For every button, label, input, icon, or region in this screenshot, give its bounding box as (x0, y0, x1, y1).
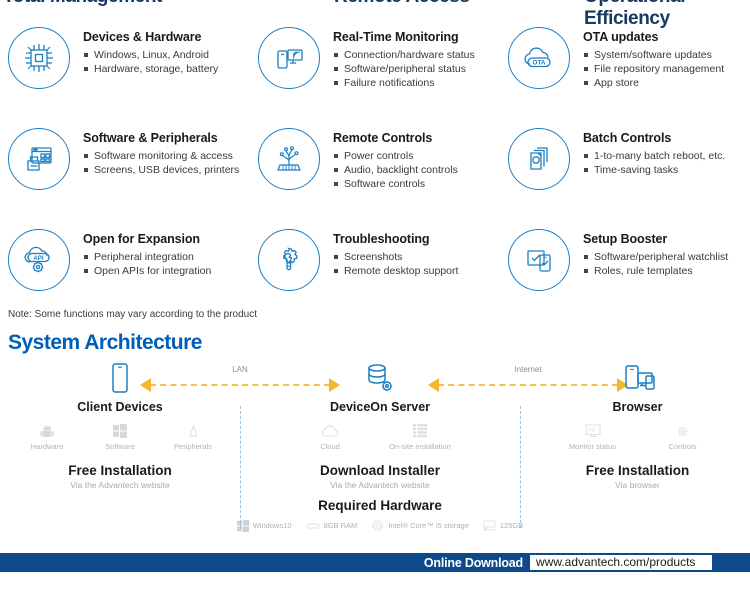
feature-item: File repository management (583, 62, 724, 76)
checklist-devices-icon (508, 229, 570, 291)
cloud-icon (290, 423, 370, 439)
hdd-icon (483, 520, 496, 532)
feature-item: Screenshots (333, 250, 458, 264)
system-architecture-title: System Architecture (8, 331, 202, 355)
feature-item: Time-saving tasks (583, 163, 725, 177)
feature-item: Open APIs for integration (83, 264, 211, 278)
feature-card-batch-controls: Batch Controls 1-to-many batch reboot, e… (500, 125, 750, 226)
feature-title: Open for Expansion (83, 232, 211, 246)
subitem-label: Software (84, 442, 157, 451)
server-subitems: Cloud On-site installation (250, 423, 510, 451)
node-deviceon-server: DeviceOn Server Cloud (250, 362, 510, 532)
api-cloud-gear-icon: API (8, 229, 70, 291)
requirement-os: Windows10 (237, 520, 292, 532)
feature-item: Audio, backlight controls (333, 163, 458, 177)
feature-card-devices-hardware: Devices & Hardware Windows, Linux, Andro… (0, 24, 250, 125)
feature-item: Windows, Linux, Android (83, 48, 218, 62)
feature-item: Roles, rule templates (583, 264, 728, 278)
disclaimer-note: Note: Some functions may vary according … (8, 309, 257, 320)
feature-item: Power controls (333, 149, 458, 163)
windows-icon (84, 423, 157, 439)
browser-subitems: Monitor status Controls (530, 423, 745, 451)
requirement-label: Intel® Core™ i5 storage (388, 521, 469, 530)
requirement-cpu: Intel® Core™ i5 storage (371, 519, 469, 532)
subitem-onsite: On-site installation (370, 423, 470, 451)
feature-title: OTA updates (583, 30, 724, 44)
server-headline: Download Installer (250, 463, 510, 478)
feature-row: Devices & Hardware Windows, Linux, Andro… (0, 24, 750, 125)
feature-title: Troubleshooting (333, 232, 458, 246)
node-client-devices: Client Devices Hardware (10, 362, 230, 490)
circuit-controls-icon (258, 128, 320, 190)
cloud-ota-icon: OTA (508, 27, 570, 89)
batch-documents-icon (508, 128, 570, 190)
client-subline: Via the Advantech website (10, 480, 230, 490)
feature-title: Setup Booster (583, 232, 728, 246)
controls-gear-icon (638, 423, 728, 439)
feature-grid: Devices & Hardware Windows, Linux, Andro… (0, 24, 750, 327)
feature-row: Software & Peripherals Software monitori… (0, 125, 750, 226)
ram-icon (306, 521, 320, 531)
feature-text: Setup Booster Software/peripheral watchl… (570, 226, 728, 278)
feature-card-ota-updates: OTA OTA updates System/software updates … (500, 24, 750, 125)
feature-item: Software controls (333, 177, 458, 191)
windows-icon (237, 520, 249, 532)
divider-left (240, 406, 241, 528)
subitem-controls: Controls (638, 423, 728, 451)
feature-text: Batch Controls 1-to-many batch reboot, e… (570, 125, 725, 177)
feature-title: Software & Peripherals (83, 131, 239, 145)
browser-headline: Free Installation (530, 463, 745, 478)
node-label: Client Devices (10, 400, 230, 414)
onsite-server-icon (370, 423, 470, 439)
subitem-label: Cloud (290, 442, 370, 451)
subitem-peripherals: Peripherals (157, 423, 230, 451)
feature-title: Real-Time Monitoring (333, 30, 475, 44)
feature-item: 1-to-many batch reboot, etc. (583, 149, 725, 163)
node-browser: Browser Monitor status (530, 362, 745, 490)
monitor-status-icon (548, 423, 638, 439)
feature-title: Devices & Hardware (83, 30, 218, 44)
node-label: Browser (530, 400, 745, 414)
feature-text: Remote Controls Power controls Audio, ba… (320, 125, 458, 191)
feature-item: Connection/hardware status (333, 48, 475, 62)
feature-item: App store (583, 76, 724, 90)
software-peripherals-icon (8, 128, 70, 190)
feature-card-setup-booster: Setup Booster Software/peripheral watchl… (500, 226, 750, 327)
android-icon (11, 423, 84, 439)
feature-text: OTA updates System/software updates File… (570, 24, 724, 90)
subitem-hardware: Hardware (11, 423, 84, 451)
client-headline: Free Installation (10, 463, 230, 478)
requirement-storage: 125GB (483, 520, 523, 532)
subitem-label: On-site installation (370, 442, 470, 451)
online-download-label: Online Download (424, 556, 523, 570)
feature-item: Software/peripheral watchlist (583, 250, 728, 264)
browser-subline: Via browser (530, 480, 745, 490)
node-label: DeviceOn Server (250, 400, 510, 414)
svg-text:OTA: OTA (532, 60, 545, 67)
multi-device-browser-icon (530, 362, 745, 396)
cpu-icon (371, 519, 384, 532)
architecture-diagram: LAN Internet Client Devices (0, 362, 750, 532)
requirement-label: 125GB (500, 521, 523, 530)
peripherals-icon (157, 423, 230, 439)
download-url[interactable]: www.advantech.com/products (530, 555, 712, 570)
feature-item: System/software updates (583, 48, 724, 62)
feature-title: Remote Controls (333, 131, 458, 145)
feature-text: Open for Expansion Peripheral integratio… (70, 226, 211, 278)
feature-card-troubleshooting: Troubleshooting Screenshots Remote deskt… (250, 226, 500, 327)
server-requirements-title: Required Hardware (250, 498, 510, 513)
feature-item: Failure notifications (333, 76, 475, 90)
subitem-label: Controls (638, 442, 728, 451)
subitem-software: Software (84, 423, 157, 451)
feature-card-software-peripherals: Software & Peripherals Software monitori… (0, 125, 250, 226)
subitem-label: Hardware (11, 442, 84, 451)
database-gear-icon (250, 362, 510, 396)
subitem-label: Monitor status (548, 442, 638, 451)
feature-item: Hardware, storage, battery (83, 62, 218, 76)
client-subitems: Hardware Software (10, 423, 230, 451)
requirement-label: 8GB RAM (324, 521, 358, 530)
feature-item: Screens, USB devices, printers (83, 163, 239, 177)
subitem-cloud: Cloud (290, 423, 370, 451)
mobile-device-icon (10, 362, 230, 396)
feature-card-real-time-monitoring: Real-Time Monitoring Connection/hardware… (250, 24, 500, 125)
feature-item: Software monitoring & access (83, 149, 239, 163)
poster-page: Total Management Remote Access Operation… (0, 0, 750, 591)
requirement-ram: 8GB RAM (306, 521, 358, 531)
feature-item: Peripheral integration (83, 250, 211, 264)
subitem-monitor-status: Monitor status (548, 423, 638, 451)
feature-text: Software & Peripherals Software monitori… (70, 125, 239, 177)
chip-icon (8, 27, 70, 89)
feature-card-remote-controls: Remote Controls Power controls Audio, ba… (250, 125, 500, 226)
feature-text: Devices & Hardware Windows, Linux, Andro… (70, 24, 218, 76)
footer-bar: Online Download www.advantech.com/produc… (0, 553, 750, 572)
feature-text: Real-Time Monitoring Connection/hardware… (320, 24, 475, 90)
svg-text:API: API (33, 255, 44, 262)
feature-item: Remote desktop support (333, 264, 458, 278)
feature-text: Troubleshooting Screenshots Remote deskt… (320, 226, 458, 278)
requirement-label: Windows10 (253, 521, 292, 530)
server-subline: Via the Advantech website (250, 480, 510, 490)
server-requirements: Windows10 8GB RAM (250, 519, 510, 532)
feature-item: Software/peripheral status (333, 62, 475, 76)
divider-right (520, 406, 521, 528)
subitem-label: Peripherals (157, 442, 230, 451)
remote-monitoring-icon (258, 27, 320, 89)
feature-title: Batch Controls (583, 131, 725, 145)
gear-wrench-icon (258, 229, 320, 291)
